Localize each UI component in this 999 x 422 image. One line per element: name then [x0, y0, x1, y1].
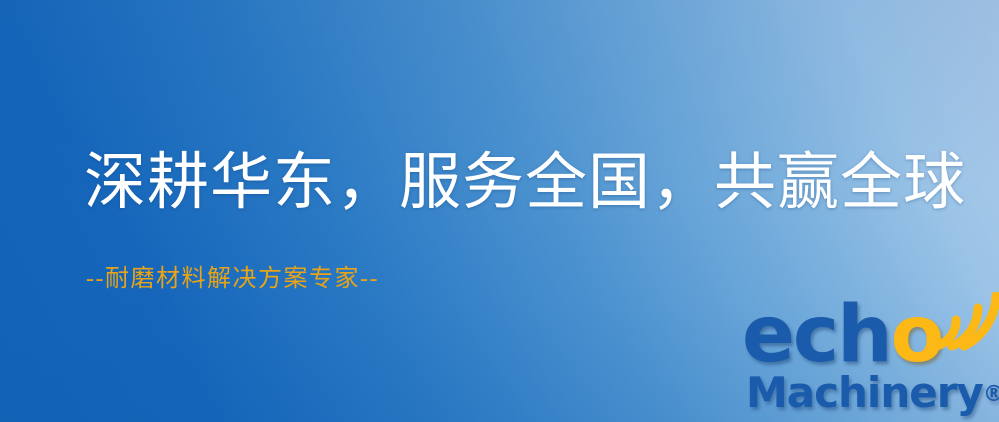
company-logo: echo Machinery®	[742, 296, 999, 422]
headline-text: 深耕华东，服务全国，共赢全球	[84, 152, 966, 214]
logo-wordmark: echo	[742, 296, 942, 374]
subtitle-text: --耐磨材料解决方案专家--	[86, 267, 379, 291]
logo-wordmark-prefix: ech	[742, 290, 891, 380]
logo-tagline-text: Machinery	[746, 368, 983, 417]
registered-trademark-icon: ®	[983, 382, 999, 407]
echo-waves-icon	[928, 292, 999, 356]
hero-banner: 深耕华东，服务全国，共赢全球 --耐磨材料解决方案专家-- echo Machi…	[0, 0, 999, 422]
logo-tagline: Machinery®	[746, 372, 999, 416]
